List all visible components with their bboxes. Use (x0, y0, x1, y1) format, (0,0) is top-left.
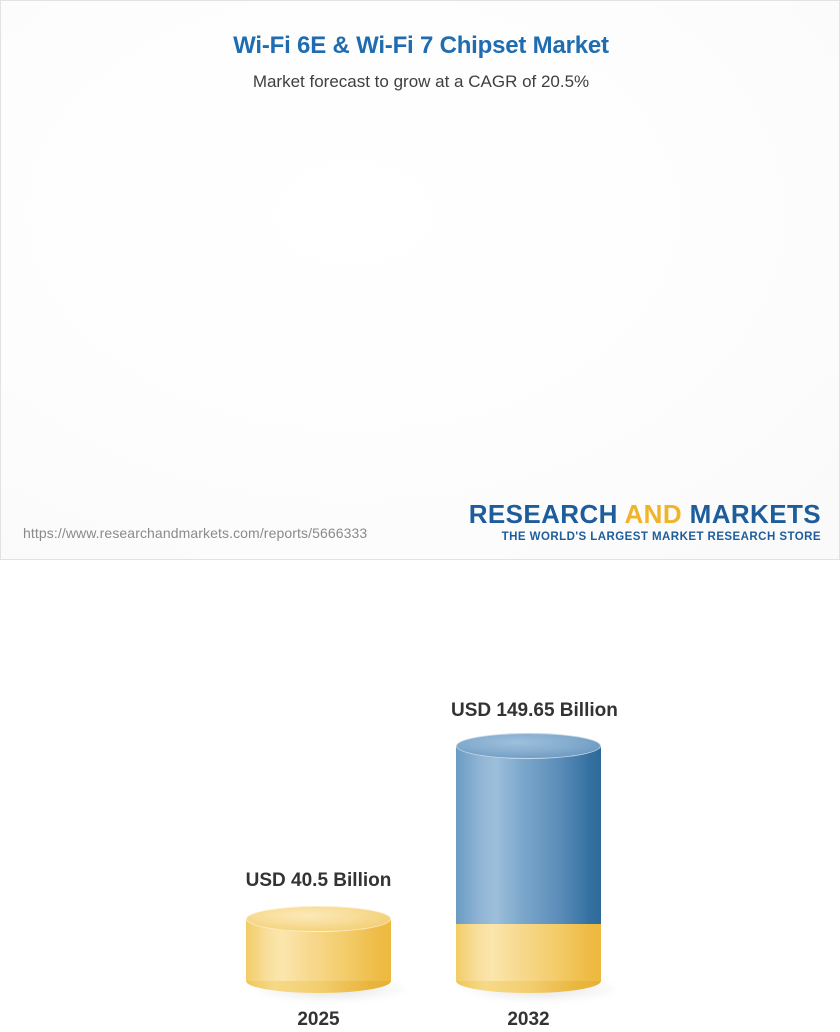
logo-word-and: AND (624, 499, 682, 529)
bar-segment-blue-2032 (456, 746, 601, 924)
bar-cylinder-2025[interactable] (246, 906, 391, 993)
bar-top-cap-2025 (246, 906, 391, 932)
logo-wordmark: RESEARCH AND MARKETS (469, 500, 821, 528)
category-label-2032: 2032 (451, 1008, 606, 1032)
research-and-markets-logo[interactable]: RESEARCH AND MARKETS THE WORLD'S LARGEST… (469, 500, 821, 545)
logo-tagline: THE WORLD'S LARGEST MARKET RESEARCH STOR… (469, 528, 821, 545)
bar-cylinder-2032[interactable] (456, 733, 601, 993)
category-label-2025: 2025 (241, 1008, 396, 1032)
bar-body-2032 (456, 746, 601, 981)
infographic-canvas: Wi-Fi 6E & Wi-Fi 7 Chipset Market Market… (0, 0, 840, 560)
value-label-2032: USD 149.65 Billion (451, 699, 606, 723)
logo-word-markets: MARKETS (690, 499, 821, 529)
logo-word-research: RESEARCH (469, 499, 618, 529)
chart-plot-area: USD 40.5 Billion 2025 USD 149.65 Billion (1, 1, 840, 561)
bar-segment-gold-2032 (456, 924, 601, 981)
value-label-2025: USD 40.5 Billion (241, 869, 396, 893)
report-url[interactable]: https://www.researchandmarkets.com/repor… (23, 525, 367, 541)
bar-top-cap-2032 (456, 733, 601, 759)
